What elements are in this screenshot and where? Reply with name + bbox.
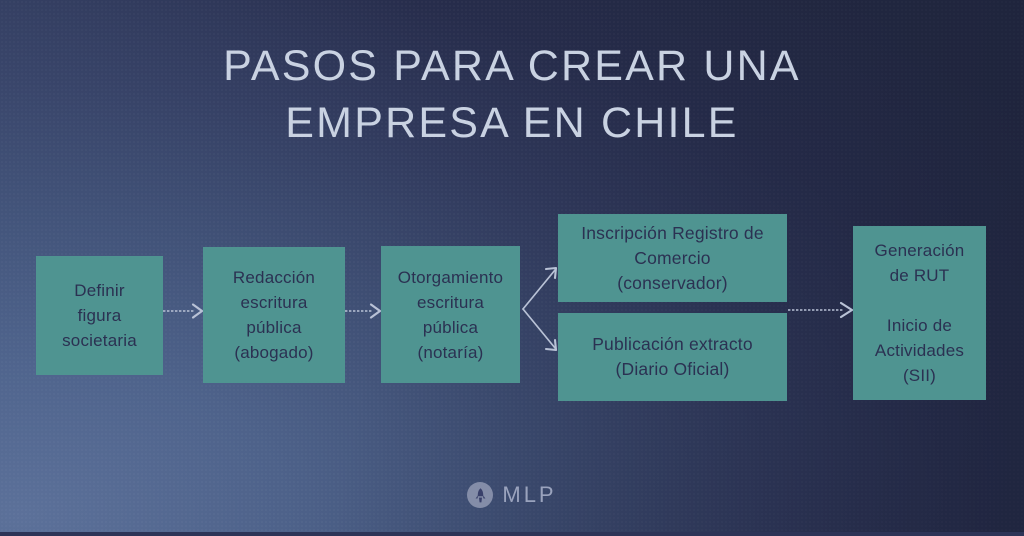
step-box-generacion-rut-inicio-actividades[interactable]: Generación de RUT Inicio de Actividades … [853,226,986,400]
footer-logo: MLP [0,482,1024,508]
step-box-label: Redacción escritura pública (abogado) [233,265,315,365]
infographic-canvas: PASOS PARA CREAR UNA EMPRESA EN CHILE De… [0,0,1024,536]
step-box-label: Definir figura societaria [62,278,137,353]
page-title: PASOS PARA CREAR UNA EMPRESA EN CHILE [0,38,1024,152]
step-box-publicacion-extracto[interactable]: Publicación extracto (Diario Oficial) [558,313,787,401]
mlp-rocket-icon [467,482,493,508]
arrow-to-final-icon [788,298,856,322]
step-box-label: Publicación extracto (Diario Oficial) [592,332,753,382]
bottom-edge-band [0,532,1024,536]
page-title-line-1: PASOS PARA CREAR UNA [0,38,1024,95]
arrow-step1-to-step2-icon [163,300,205,322]
step-box-label: Inscripción Registro de Comercio (conser… [581,221,764,296]
step-box-redaccion-escritura-publica[interactable]: Redacción escritura pública (abogado) [203,247,345,383]
step-box-otorgamiento-escritura-publica[interactable]: Otorgamiento escritura pública (notaría) [381,246,520,383]
page-title-line-2: EMPRESA EN CHILE [0,95,1024,152]
step-box-inscripcion-registro-comercio[interactable]: Inscripción Registro de Comercio (conser… [558,214,787,302]
arrow-step2-to-step3-icon [345,300,383,322]
step-box-definir-figura-societaria[interactable]: Definir figura societaria [36,256,163,375]
step-box-label: Generación de RUT Inicio de Actividades … [875,238,965,388]
step-box-label: Otorgamiento escritura pública (notaría) [398,265,503,365]
arrow-branch-step3-icon [521,258,563,360]
mlp-wordmark: MLP [502,482,556,508]
